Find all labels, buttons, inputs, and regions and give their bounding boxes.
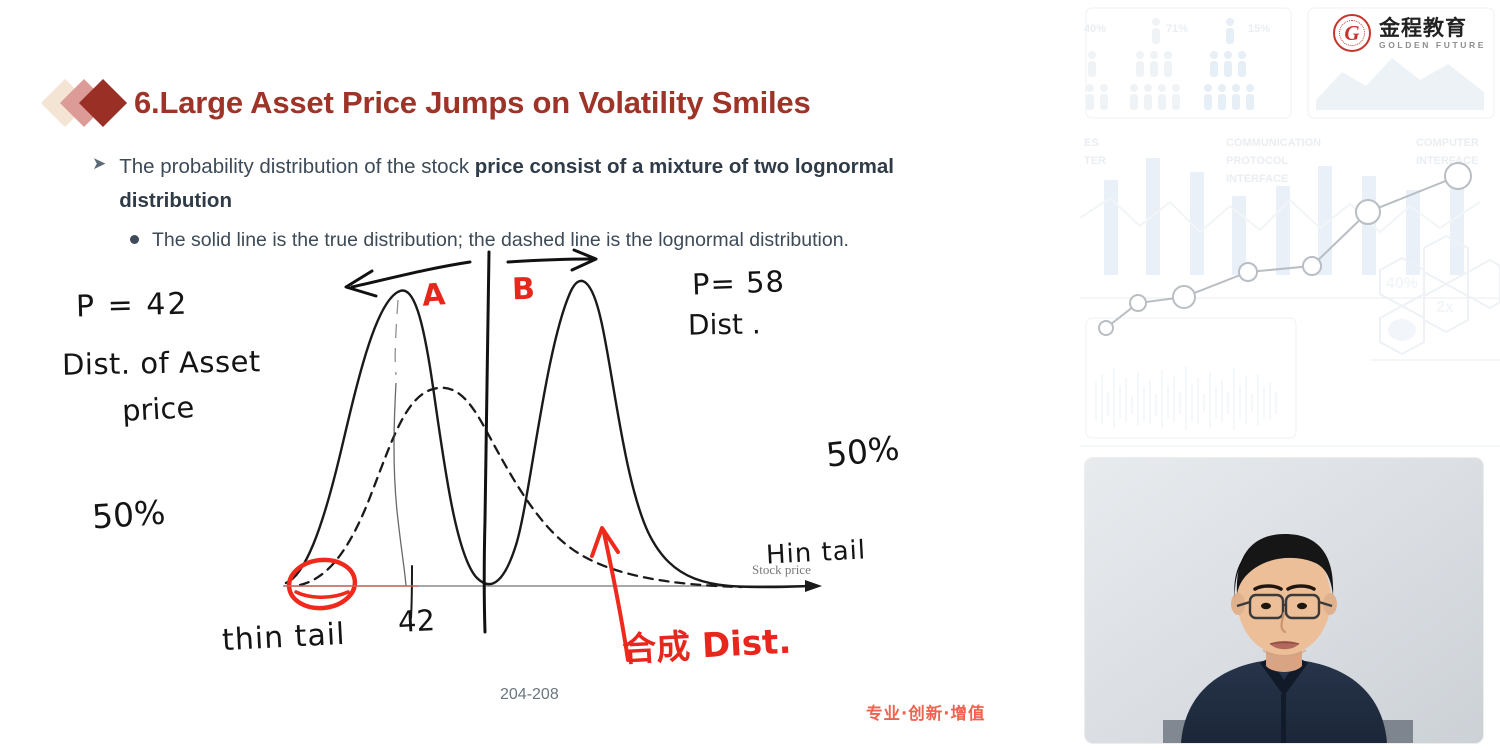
logo-seal-icon: G bbox=[1333, 14, 1371, 52]
handwriting-p-equals-58: P= 58 bbox=[691, 264, 785, 301]
handwriting-label-a: A bbox=[421, 277, 447, 314]
svg-text:15%: 15% bbox=[1248, 23, 1270, 35]
left-peak-inner-stroke bbox=[395, 300, 398, 375]
arrow-right-stroke bbox=[508, 259, 592, 262]
svg-text:INTERFACE: INTERFACE bbox=[1226, 173, 1288, 185]
brand-tagline: 专业·创新·增值 bbox=[866, 700, 986, 724]
svg-text:ES: ES bbox=[1084, 137, 1099, 149]
logo-english-name: GOLDEN FUTURE bbox=[1379, 40, 1486, 50]
handwriting-pct-left: 50% bbox=[91, 492, 167, 536]
arrow-left-stroke bbox=[352, 262, 470, 287]
instructor-video-feed[interactable] bbox=[1085, 458, 1483, 743]
logo-mark-letter: G bbox=[1344, 21, 1359, 46]
page-reference: 204-208 bbox=[500, 686, 559, 704]
red-circle-left-tail bbox=[287, 557, 358, 612]
handwriting-thin-tail-left: thin tail bbox=[221, 617, 346, 658]
svg-text:2x: 2x bbox=[1436, 299, 1454, 316]
handwriting-label-b: B bbox=[511, 272, 535, 308]
handwriting-price: price bbox=[121, 390, 195, 428]
red-circle-left-tail-2 bbox=[296, 592, 348, 597]
handwriting-pct-right: 50% bbox=[824, 428, 901, 474]
logo-chinese-name: 金程教育 bbox=[1379, 17, 1486, 39]
x-axis-label: Stock price bbox=[752, 562, 811, 578]
left-peak-inner-stroke-2 bbox=[394, 383, 406, 586]
instructor-portrait bbox=[1085, 458, 1483, 743]
svg-text:TER: TER bbox=[1084, 155, 1106, 167]
presentation-slide: 6.Large Asset Price Jumps on Volatility … bbox=[0, 0, 1080, 750]
center-divider-line bbox=[484, 252, 489, 632]
svg-text:COMMUNICATION: COMMUNICATION bbox=[1226, 137, 1321, 149]
svg-text:PROTOCOL: PROTOCOL bbox=[1226, 155, 1288, 167]
handwriting-dist-right: Dist . bbox=[688, 307, 761, 341]
decorative-infographic: ES TER COMMUNICATION PROTOCOL INTERFACE … bbox=[1080, 0, 1500, 460]
svg-text:40%: 40% bbox=[1084, 23, 1106, 35]
brand-logo: G 金程教育 GOLDEN FUTURE bbox=[1333, 14, 1486, 52]
svg-text:40%: 40% bbox=[1386, 275, 1418, 292]
svg-text:71%: 71% bbox=[1166, 23, 1188, 35]
handwriting-p-equals-42: P = 42 bbox=[76, 287, 189, 325]
lognormal-dashed-curve bbox=[300, 388, 742, 587]
handwriting-value-42: 42 bbox=[397, 603, 436, 639]
slide-screenshot: 6.Large Asset Price Jumps on Volatility … bbox=[0, 0, 1500, 750]
svg-text:INTERFACE: INTERFACE bbox=[1416, 155, 1478, 167]
svg-text:COMPUTER: COMPUTER bbox=[1416, 137, 1479, 149]
handwriting-dist-of-asset: Dist. of Asset bbox=[62, 344, 261, 381]
handwriting-synth-dist: 合成 Dist. bbox=[621, 614, 792, 672]
